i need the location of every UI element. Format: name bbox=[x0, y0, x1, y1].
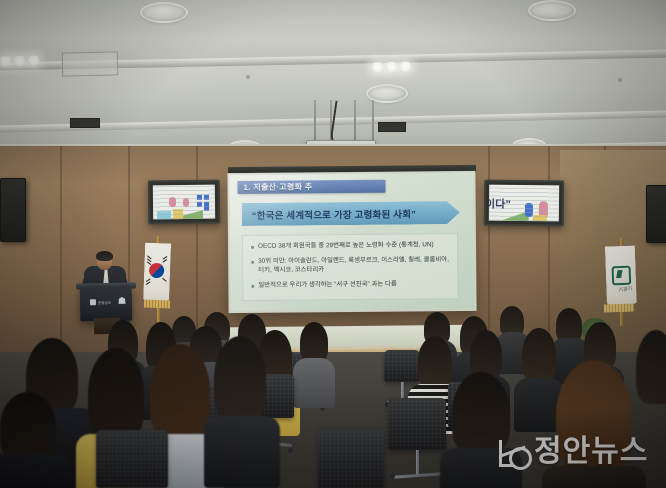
torso bbox=[542, 466, 646, 488]
slide-title-text: 1. 저출산·고령화 추 bbox=[243, 181, 312, 193]
torso bbox=[204, 416, 280, 488]
wall-speaker-right bbox=[646, 185, 666, 243]
hair bbox=[556, 360, 632, 472]
slide-bullet-area: OECD 38개 회원국들 중 29번째로 높은 노령화 수준 (통계청, UN… bbox=[242, 233, 459, 301]
left-monitor-screen bbox=[153, 185, 215, 220]
lectern: 충청남도 ☗ bbox=[80, 287, 133, 322]
presenter-hair bbox=[96, 251, 113, 261]
lectern-logo: 충청남도 bbox=[90, 298, 120, 307]
left-wall-monitor bbox=[148, 180, 220, 225]
ceiling-sensor bbox=[246, 75, 250, 79]
ceiling-vent bbox=[62, 51, 118, 76]
right-wall-monitor: 이다” bbox=[484, 180, 564, 227]
spotlight bbox=[0, 56, 11, 66]
korean-national-flag bbox=[143, 243, 171, 308]
flag-fringe-org bbox=[604, 303, 634, 312]
hair bbox=[522, 328, 556, 382]
slide-headline-text: “한국은 세계적으로 가장 고령화된 사회” bbox=[252, 206, 416, 221]
slide-bullet: 30위 미만: 아이슬란드, 아일랜드, 룩셈부르크, 이스라엘, 칠레, 콜롬… bbox=[251, 256, 449, 275]
hair bbox=[214, 336, 266, 422]
monitor-scanlines bbox=[489, 185, 559, 222]
presentation-slide: 1. 저출산·고령화 추 “한국은 세계적으로 가장 고령화된 사회” OECD… bbox=[229, 173, 474, 311]
torso bbox=[0, 454, 72, 488]
spotlight bbox=[372, 62, 383, 72]
right-monitor-screen: 이다” bbox=[489, 185, 559, 222]
hair bbox=[300, 322, 328, 362]
hair bbox=[150, 344, 210, 440]
ceiling-vent bbox=[70, 118, 100, 128]
slide-title-bar: 1. 저출산·고령화 추 bbox=[237, 180, 385, 194]
spotlight bbox=[386, 62, 397, 72]
hair bbox=[88, 348, 144, 440]
slide-bullet-text: 일반적으로 우리가 생각하는 “서구 선진국” 과는 다름 bbox=[258, 281, 396, 291]
spotlight bbox=[14, 56, 25, 66]
ceiling-vent bbox=[378, 122, 406, 132]
lectern-logo-text: 충청남도 bbox=[98, 299, 111, 304]
torso bbox=[440, 448, 522, 488]
slide-headline-banner: “한국은 세계적으로 가장 고령화된 사회” bbox=[242, 201, 460, 226]
slide-bullet: 일반적으로 우리가 생각하는 “서구 선진국” 과는 다름 bbox=[251, 280, 449, 290]
torso bbox=[293, 358, 335, 408]
hair bbox=[556, 308, 582, 342]
slide-bullet: OECD 38개 회원국들 중 29번째로 높은 노령화 수준 (통계청, UN… bbox=[251, 241, 449, 251]
organization-flag: 기관기 bbox=[605, 245, 637, 312]
hair bbox=[0, 392, 56, 462]
slide-bullet-text: OECD 38개 회원국들 중 29번째로 높은 노령화 수준 (통계청, UN… bbox=[258, 241, 434, 251]
lectern-emblem-icon: ☗ bbox=[118, 296, 126, 307]
monitor-scanlines bbox=[153, 185, 215, 220]
bullet-dot-icon bbox=[251, 260, 254, 263]
ceiling-diffuser bbox=[528, 0, 576, 21]
hair bbox=[452, 372, 510, 454]
projection-screen: 1. 저출산·고령화 추 “한국은 세계적으로 가장 고령화된 사회” OECD… bbox=[227, 171, 476, 313]
organization-flag-text: 기관기 bbox=[618, 285, 633, 294]
spotlight bbox=[28, 56, 39, 66]
lectern-logo-mark-icon bbox=[90, 299, 96, 305]
organization-emblem-icon bbox=[612, 266, 632, 286]
lecture-hall-photo: 이다” 1. 저출산·고령화 추 “한국은 세계적으로 가장 고령화된 사회” … bbox=[0, 0, 666, 488]
ceiling-spotlight-row bbox=[372, 62, 411, 75]
ceiling-sensor bbox=[618, 78, 622, 82]
hair bbox=[636, 330, 666, 404]
bullet-dot-icon bbox=[251, 245, 254, 248]
bullet-dot-icon bbox=[251, 284, 254, 287]
hair bbox=[418, 336, 452, 388]
spotlight bbox=[400, 62, 411, 72]
ceiling-spotlight-row bbox=[0, 56, 39, 69]
ceiling-diffuser bbox=[140, 2, 188, 23]
flag-fringe-korea bbox=[144, 300, 170, 309]
slide-bullet-text: 30위 미만: 아이슬란드, 아일랜드, 룩셈부르크, 이스라엘, 칠레, 콜롬… bbox=[258, 256, 449, 275]
wall-speaker-left bbox=[0, 178, 26, 242]
